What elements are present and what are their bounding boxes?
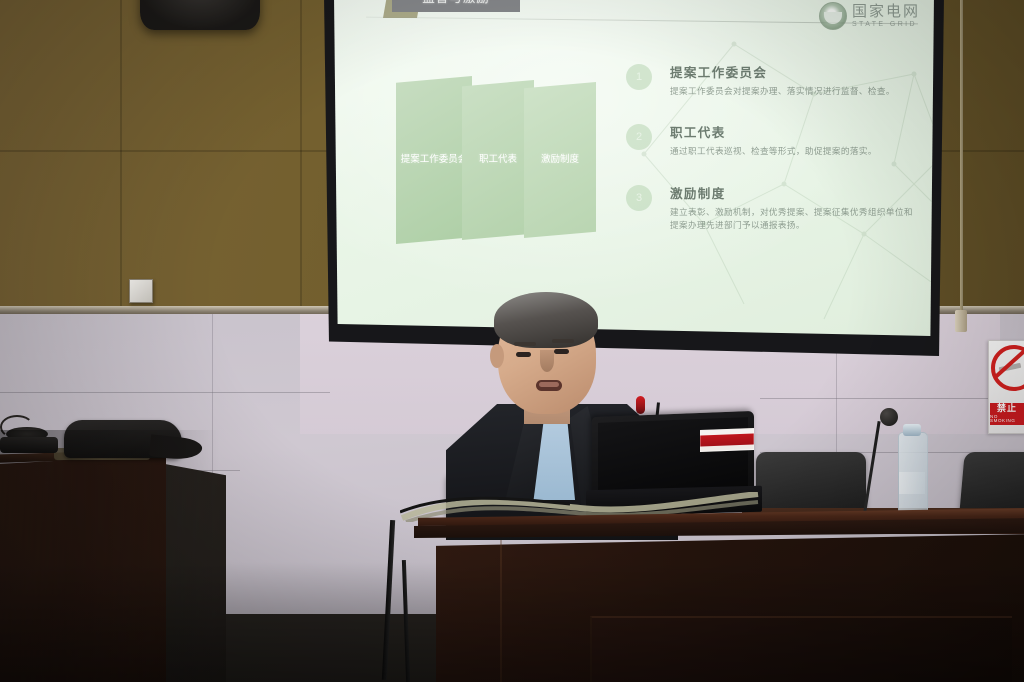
slide-title-tab: 监督与激励 — [392, 0, 520, 12]
no-smoking-text-cn: 禁止 — [997, 404, 1017, 413]
presenter-eye — [516, 352, 531, 357]
desk-object — [0, 437, 58, 453]
bullet-item: 1 提案工作委员会 提案工作委员会对提案办理、落实情况进行监督、检查。 — [626, 62, 916, 98]
laptop-sticker — [700, 428, 754, 452]
presenter-eyebrow — [514, 342, 536, 346]
left-cabinet — [0, 455, 166, 682]
wall-conduit-cap — [955, 310, 967, 332]
gooseneck-microphone-head — [636, 396, 645, 414]
tile-line — [760, 398, 1024, 399]
wall-conduit — [960, 0, 963, 318]
bullet-body-2: 通过职工代表巡视、检查等形式，助促提案的落实。 — [670, 145, 916, 158]
no-smoking-text-en: NO SMOKING — [990, 415, 1024, 424]
logo-text-cn: 国家电网 — [852, 4, 920, 19]
tile-line — [212, 314, 213, 484]
chevron-label-1: 提案工作委员会 — [401, 154, 468, 166]
coiled-cable — [0, 415, 34, 439]
bullet-heading-3: 激励制度 — [670, 183, 916, 202]
water-bottle-label — [899, 472, 925, 494]
presenter-hair — [494, 292, 598, 348]
podium-seam — [500, 540, 502, 682]
bullet-item: 3 激励制度 建立表彰、激励机制，对优秀提案、提案征集优秀组织单位和提案办理先进… — [626, 183, 916, 233]
bullet-body-3: 建立表彰、激励机制，对优秀提案、提案征集优秀组织单位和提案办理先进部门予以通报表… — [670, 206, 916, 233]
bullet-number-3: 3 — [626, 185, 652, 211]
conference-chair — [756, 452, 866, 514]
presenter-nose — [540, 350, 554, 372]
bullet-number-2: 2 — [626, 124, 652, 150]
no-smoking-sign: 禁止 NO SMOKING — [988, 340, 1024, 434]
state-grid-logo: 国家电网 STATE GRID — [819, 2, 920, 30]
photo-scene: 监督与激励 国家电网 STATE GRID 提案工作委员会 职工代表 激励制度 … — [0, 0, 1024, 682]
logo-text-en: STATE GRID — [852, 21, 920, 28]
bullet-heading-2: 职工代表 — [670, 122, 916, 141]
state-grid-logo-icon — [819, 2, 847, 30]
chevron-shape-2: 职工代表 — [462, 80, 534, 240]
podium-recessed-panel — [590, 616, 1012, 682]
chevron-label-3: 激励制度 — [541, 154, 579, 166]
bullet-heading-1: 提案工作委员会 — [670, 62, 916, 81]
presenter-eye — [554, 349, 569, 354]
presenter-eyebrow — [552, 339, 574, 343]
chevron-shape-1: 提案工作委员会 — [396, 76, 472, 244]
wall-seam — [300, 0, 302, 312]
no-smoking-label: 禁止 NO SMOKING — [990, 403, 1024, 425]
slide-title: 监督与激励 — [422, 0, 490, 6]
wall-seam — [120, 0, 122, 312]
tile-line — [0, 392, 330, 393]
water-bottle-cap — [903, 424, 921, 436]
presenter-ear — [490, 344, 504, 368]
slide-bullet-list: 1 提案工作委员会 提案工作委员会对提案办理、落实情况进行监督、检查。 2 职工… — [626, 62, 916, 256]
projection-screen: 监督与激励 国家电网 STATE GRID 提案工作委员会 职工代表 激励制度 … — [334, 0, 934, 336]
bullet-item: 2 职工代表 通过职工代表巡视、检查等形式，助促提案的落实。 — [626, 122, 916, 158]
conference-chair — [959, 452, 1024, 514]
bullet-number-1: 1 — [626, 64, 652, 90]
presenter-mouth — [536, 380, 562, 391]
chevron-label-2: 职工代表 — [479, 154, 517, 166]
desk-microphone-head — [880, 408, 898, 426]
bullet-body-1: 提案工作委员会对提案办理、落实情况进行监督、检查。 — [670, 85, 916, 98]
light-switch[interactable] — [129, 279, 153, 303]
wall-speaker-icon — [140, 0, 260, 30]
chevron-shape-3: 激励制度 — [524, 82, 596, 238]
